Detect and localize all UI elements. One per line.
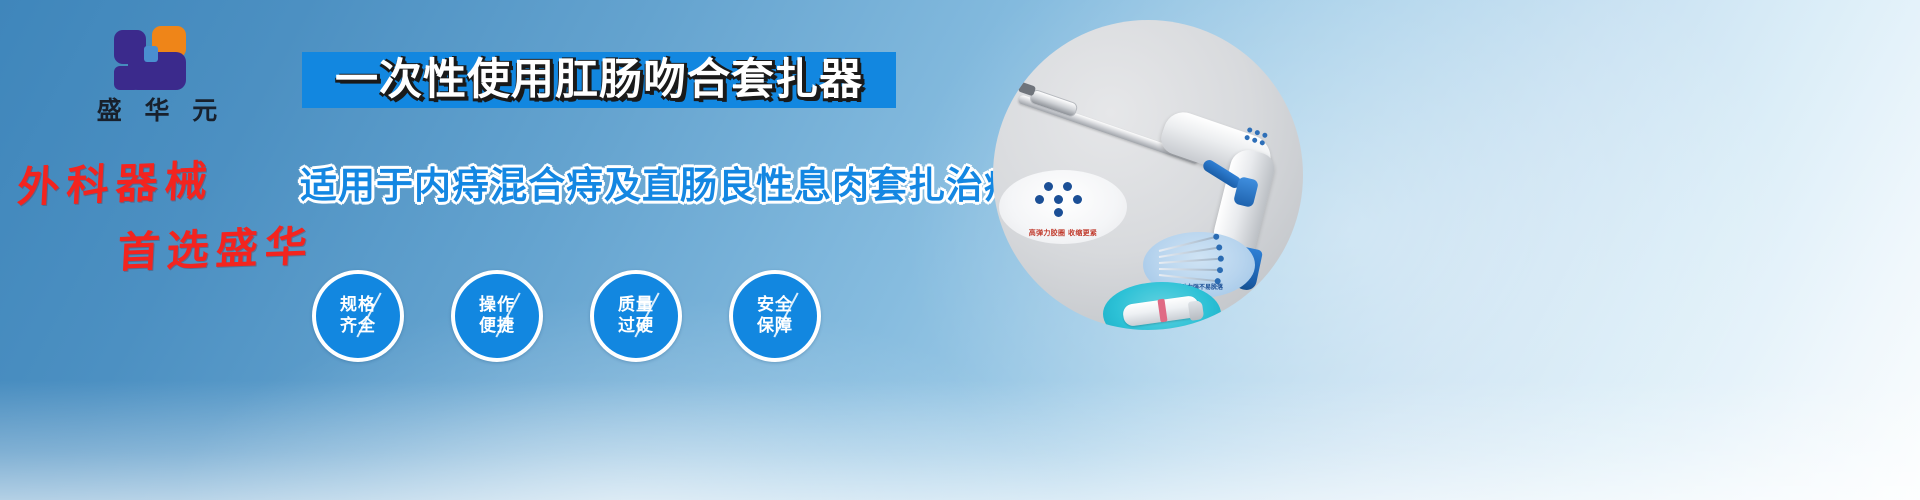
needle-item — [1159, 274, 1217, 282]
feature-label-line-2: 齐全 — [340, 316, 376, 337]
feature-label-line-1: 安全 — [757, 295, 793, 316]
feature-label-line-2: 保障 — [757, 316, 793, 337]
feature-badge-label: 质量 过硬 — [594, 274, 678, 358]
bottom-fade-overlay — [0, 380, 1920, 500]
needle-item — [1159, 258, 1220, 264]
logo-notch — [144, 46, 158, 62]
feature-badge-safety[interactable]: 安全 保障 — [729, 270, 821, 362]
tube-cap — [1188, 300, 1205, 321]
feature-label-line-2: 过硬 — [618, 316, 654, 337]
logo-mark-icon — [114, 26, 200, 92]
logo-square-purple-bottom-left — [114, 66, 140, 90]
ligation-rings-icon — [1035, 182, 1091, 218]
needle-item — [1159, 268, 1219, 271]
feature-badge-operation[interactable]: 操作 便捷 — [451, 270, 543, 362]
feature-label-line-2: 便捷 — [479, 316, 515, 337]
instrument-tip-end — [1018, 82, 1036, 97]
feature-badges: 规格 齐全 操作 便捷 质量 过硬 安全 保障 — [312, 270, 852, 365]
feature-label-line-1: 质量 — [618, 295, 654, 316]
product-photo: 高弹力胶圈 收缩更紧 活动力强不易脱落 — [993, 20, 1303, 330]
feature-label-line-1: 操作 — [479, 295, 515, 316]
inset-photo-rings: 高弹力胶圈 收缩更紧 — [999, 170, 1127, 244]
feature-badge-quality[interactable]: 质量 过硬 — [590, 270, 682, 362]
subtitle-text: 适用于内痔混合痔及直肠良性息肉套扎治疗 — [300, 155, 910, 209]
brand-logo[interactable]: 盛 华 元 — [72, 26, 242, 126]
feature-badge-label: 操作 便捷 — [455, 274, 539, 358]
headline-title: 一次性使用肛肠吻合套扎器 — [302, 52, 896, 108]
feature-badge-label: 规格 齐全 — [316, 274, 400, 358]
feature-label-line-1: 规格 — [340, 295, 376, 316]
feature-badge-specifications[interactable]: 规格 齐全 — [312, 270, 404, 362]
promo-banner: 盛 华 元 外科器械 首选盛华 一次性使用肛肠吻合套扎器 适用于内痔混合痔及直肠… — [0, 0, 1920, 500]
feature-badge-label: 安全 保障 — [733, 274, 817, 358]
inset-caption-rings: 高弹力胶圈 收缩更紧 — [1013, 228, 1113, 238]
brand-name: 盛 华 元 — [72, 96, 242, 126]
